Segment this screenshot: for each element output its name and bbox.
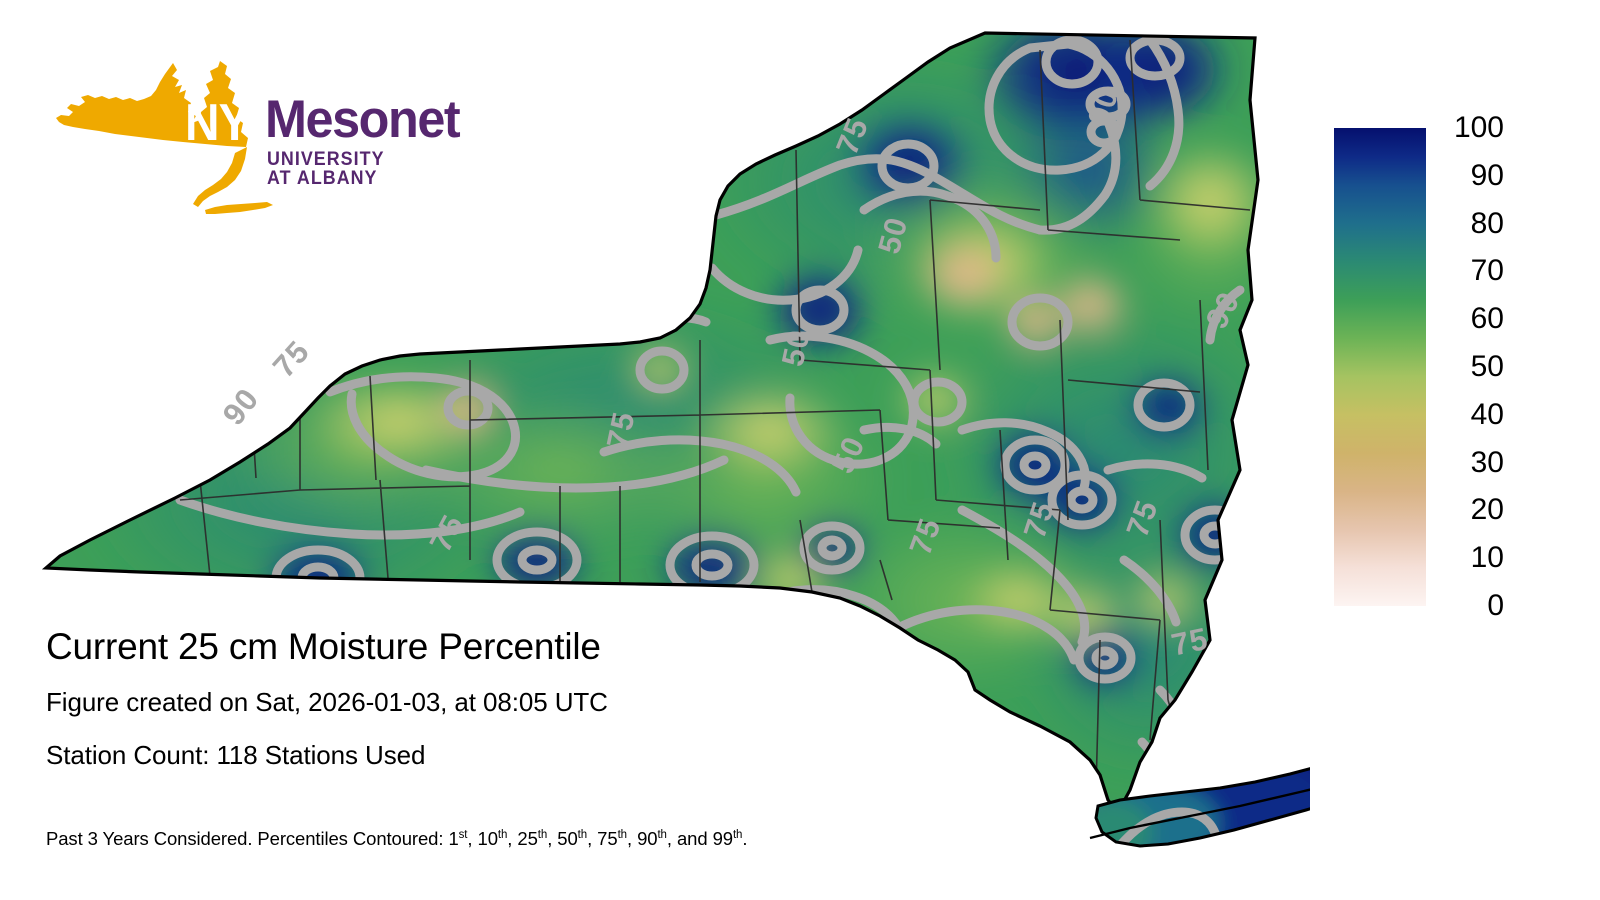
colorbar-tick-60: 60: [1438, 304, 1504, 334]
footnote-p4-suffix: th: [578, 829, 587, 841]
footnote-p2: 10: [478, 828, 498, 849]
colorbar-tick-20: 20: [1438, 495, 1504, 525]
colorbar: [1334, 128, 1426, 606]
contour-label-75: 75: [1168, 621, 1211, 663]
colorbar-tick-0: 0: [1438, 591, 1504, 621]
contour-label-75: 75: [600, 408, 642, 451]
footnote-p6-suffix: th: [657, 829, 666, 841]
figure-caption-block: Current 25 cm Moisture Percentile Figure…: [46, 625, 1046, 775]
footnote-p3: 25: [517, 828, 537, 849]
station-count: Station Count: 118 Stations Used: [46, 736, 1046, 775]
colorbar-tick-40: 40: [1438, 400, 1504, 430]
colorbar-tick-80: 80: [1438, 209, 1504, 239]
colorbar-tick-10: 10: [1438, 543, 1504, 573]
footnote-p1-suffix: st: [459, 829, 468, 841]
contour-label-50: 50: [775, 326, 817, 369]
page-title: Current 25 cm Moisture Percentile: [46, 625, 1046, 669]
footnote-p1: 1: [448, 828, 458, 849]
footnote-p5-suffix: th: [618, 829, 627, 841]
footnote-lead: Past 3 Years Considered. Percentiles Con…: [46, 828, 448, 849]
colorbar-tick-100: 100: [1438, 113, 1504, 143]
footnote-p7-suffix: th: [733, 829, 742, 841]
contour-label-90: 90: [216, 381, 266, 431]
footnote-p6: 90: [637, 828, 657, 849]
colorbar-tick-labels: 1009080706050403020100: [1438, 128, 1514, 606]
percentile-footnote: Past 3 Years Considered. Percentiles Con…: [46, 828, 747, 850]
footnote-conj: and: [672, 828, 713, 849]
footnote-p4: 50: [557, 828, 577, 849]
contour-label-75: 75: [266, 334, 316, 385]
footnote-p5: 75: [597, 828, 617, 849]
colorbar-gradient: [1334, 128, 1426, 606]
footnote-p7: 99: [713, 828, 733, 849]
footnote-p3-suffix: th: [538, 829, 547, 841]
colorbar-tick-50: 50: [1438, 352, 1504, 382]
colorbar-tick-70: 70: [1438, 256, 1504, 286]
created-timestamp: Figure created on Sat, 2026-01-03, at 08…: [46, 683, 1046, 722]
footnote-p2-suffix: th: [498, 829, 507, 841]
colorbar-tick-30: 30: [1438, 448, 1504, 478]
colorbar-tick-90: 90: [1438, 161, 1504, 191]
footnote-end: .: [742, 828, 747, 849]
